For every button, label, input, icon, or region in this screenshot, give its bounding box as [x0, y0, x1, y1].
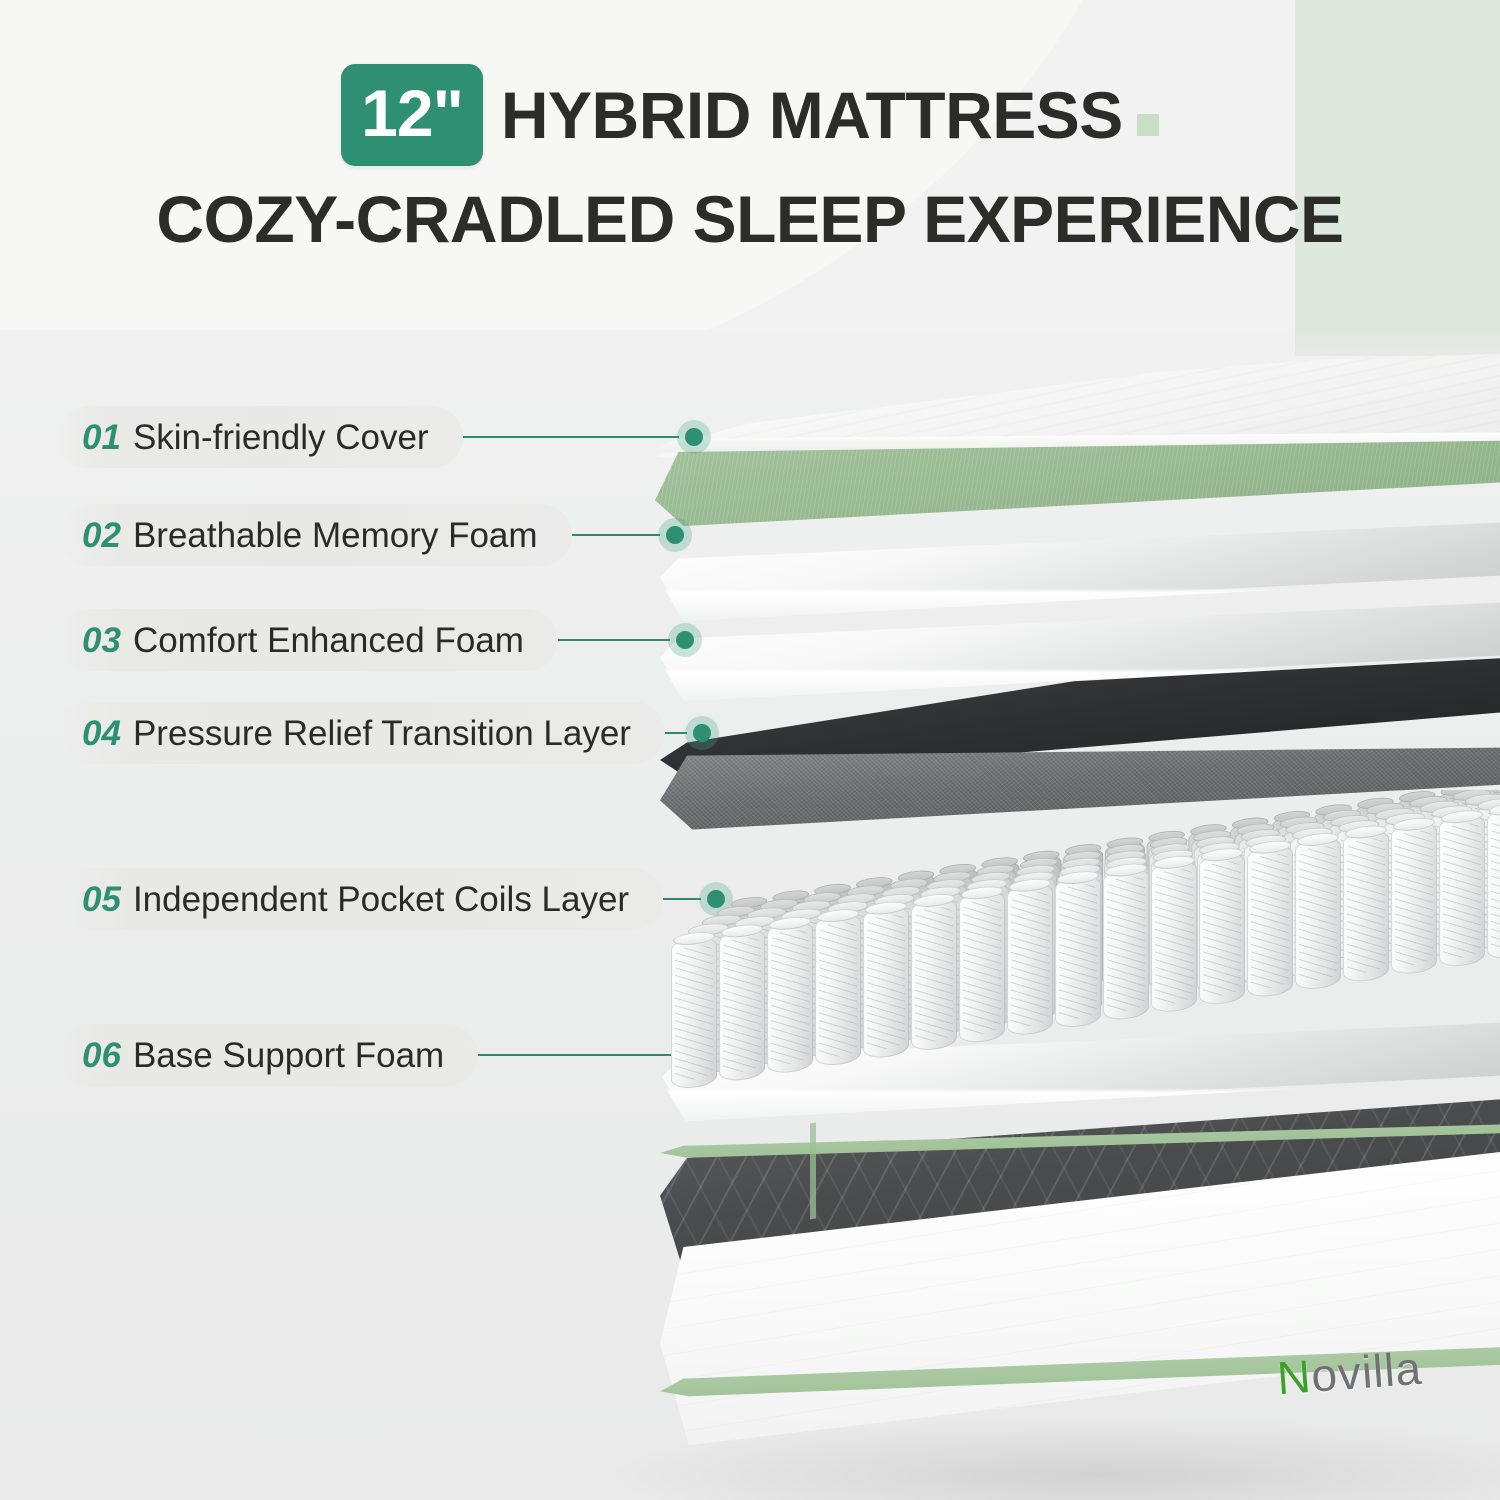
- connector-dot-core-04: [693, 724, 711, 742]
- callout-pill-05: 05 Independent Pocket Coils Layer: [58, 868, 663, 930]
- leader-line-01: [463, 436, 679, 438]
- callout-layer-01[interactable]: 01 Skin-friendly Cover: [58, 406, 711, 468]
- pocket-coil: [815, 912, 861, 1067]
- square-accent-icon: [1137, 114, 1159, 136]
- thickness-badge: 12": [341, 64, 483, 166]
- callout-number-06: 06: [82, 1038, 121, 1073]
- connector-dot-core-01: [685, 428, 703, 446]
- connector-dot-03[interactable]: [668, 623, 702, 657]
- infographic-canvas: 12" HYBRID MATTRESS COZY-CRADLED SLEEP E…: [0, 0, 1500, 1500]
- pocket-coil: [1343, 828, 1389, 983]
- callout-number-05: 05: [82, 882, 121, 917]
- cover-side-band-texture: [655, 440, 1500, 526]
- leader-line-02: [572, 534, 660, 536]
- callout-pill-06: 06 Base Support Foam: [58, 1024, 478, 1086]
- connector-dot-core-03: [676, 631, 694, 649]
- connector-dot-04[interactable]: [685, 716, 719, 750]
- layer-base-mattress-body: Novilla: [660, 1095, 1500, 1495]
- pocket-coil: [911, 897, 957, 1052]
- pocket-coil: [719, 927, 765, 1082]
- leader-line-05: [663, 898, 701, 900]
- headline-title-line-1: HYBRID MATTRESS: [501, 82, 1159, 148]
- connector-dot-core-05: [707, 890, 725, 908]
- novilla-logo: Novilla: [1276, 1345, 1424, 1402]
- callout-label-04: Pressure Relief Transition Layer: [133, 716, 631, 751]
- novilla-logo-initial: N: [1275, 1350, 1313, 1404]
- pocket-coil: [1487, 806, 1500, 961]
- pocket-coil: [1103, 866, 1149, 1021]
- pocket-coil: [671, 935, 717, 1090]
- connector-dot-02[interactable]: [658, 518, 692, 552]
- callout-pill-04: 04 Pressure Relief Transition Layer: [58, 702, 665, 764]
- leader-line-03: [558, 639, 670, 641]
- pocket-coil: [1295, 836, 1341, 991]
- callout-layer-05[interactable]: 05 Independent Pocket Coils Layer: [58, 868, 733, 930]
- callout-pill-01: 01 Skin-friendly Cover: [58, 406, 463, 468]
- pocket-coil: [1439, 813, 1485, 968]
- callout-label-01: Skin-friendly Cover: [133, 420, 429, 455]
- pocket-coil: [767, 920, 813, 1075]
- callout-number-02: 02: [82, 518, 121, 553]
- callout-pill-02: 02 Breathable Memory Foam: [58, 504, 572, 566]
- headline-line-1-text: HYBRID MATTRESS: [501, 78, 1123, 152]
- callout-label-06: Base Support Foam: [133, 1038, 444, 1073]
- callout-pill-03: 03 Comfort Enhanced Foam: [58, 609, 558, 671]
- pocket-coil: [1199, 851, 1245, 1006]
- connector-dot-core-02: [666, 526, 684, 544]
- novilla-logo-rest: ovilla: [1309, 1342, 1423, 1402]
- headline-block: 12" HYBRID MATTRESS COZY-CRADLED SLEEP E…: [0, 64, 1500, 252]
- callout-label-03: Comfort Enhanced Foam: [133, 623, 524, 658]
- layer-skin-friendly-cover: [655, 352, 1500, 542]
- callout-number-04: 04: [82, 716, 121, 751]
- pocket-coil: [1151, 859, 1197, 1014]
- pocket-coil: [1247, 844, 1293, 999]
- callout-label-05: Independent Pocket Coils Layer: [133, 882, 629, 917]
- callout-layer-06[interactable]: 06 Base Support Foam: [58, 1024, 732, 1086]
- pocket-coil: [863, 905, 909, 1060]
- callout-layer-04[interactable]: 04 Pressure Relief Transition Layer: [58, 702, 719, 764]
- callout-number-03: 03: [82, 623, 121, 658]
- pocket-coil: [1007, 882, 1053, 1037]
- pocket-coil: [1391, 821, 1437, 976]
- callout-label-02: Breathable Memory Foam: [133, 518, 538, 553]
- connector-dot-01[interactable]: [677, 420, 711, 454]
- callout-layer-03[interactable]: 03 Comfort Enhanced Foam: [58, 609, 702, 671]
- pocket-coil: [959, 889, 1005, 1044]
- callout-layer-02[interactable]: 02 Breathable Memory Foam: [58, 504, 692, 566]
- headline-row-1: 12" HYBRID MATTRESS: [0, 64, 1500, 166]
- leader-line-04: [665, 732, 687, 734]
- callout-number-01: 01: [82, 420, 121, 455]
- headline-title-line-2: COZY-CRADLED SLEEP EXPERIENCE: [0, 186, 1500, 252]
- leader-line-06: [478, 1054, 700, 1056]
- pocket-coil: [1055, 874, 1101, 1029]
